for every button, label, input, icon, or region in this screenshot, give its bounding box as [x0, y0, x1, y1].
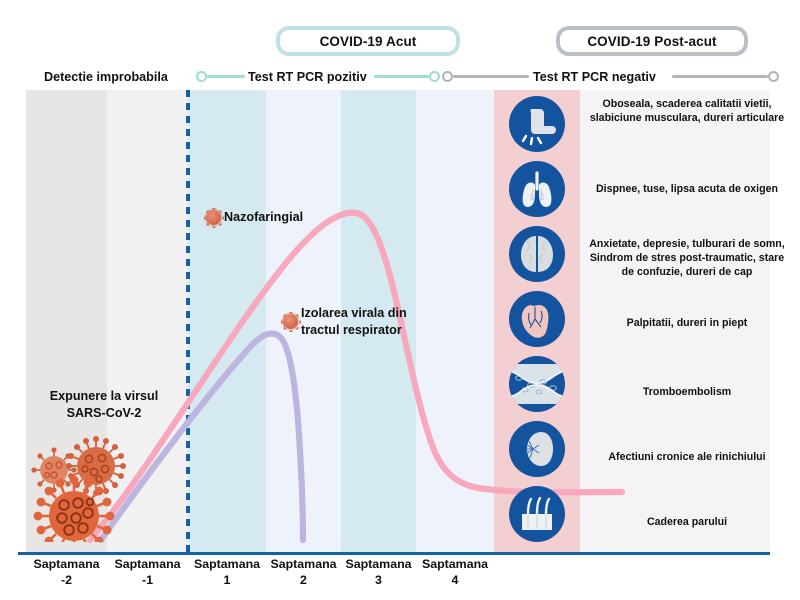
week-tick--2: Saptamana -2	[26, 556, 107, 588]
symptom-text-dyspnea: Dispnee, tuse, lipsa acuta de oxigen	[586, 182, 788, 196]
symptom-text-neuro: Anxietate, depresie, tulburari de somn, …	[586, 237, 788, 279]
week-tick--2-value: -2	[61, 573, 72, 587]
hair-follicle-icon	[509, 486, 565, 542]
kidney-icon	[509, 421, 565, 477]
joint-pain-icon	[509, 96, 565, 152]
symptom-text-thromboembolism: Tromboembolism	[586, 385, 788, 399]
annotation-nasopharyngeal-label: Nazofaringial	[224, 210, 303, 224]
annotation-nasopharyngeal: Nazofaringial	[224, 209, 303, 226]
week-tick-2-name: Saptamana	[270, 557, 336, 571]
viral-isolation-marker-icon	[283, 314, 298, 329]
annotation-viral-isolation-line2: tractul respirator	[301, 323, 402, 337]
week-tick-1-value: 1	[224, 573, 231, 587]
week-tick--2-name: Saptamana	[33, 557, 99, 571]
infographic-root: COVID-19 Acut COVID-19 Post-acut Detecti…	[0, 0, 800, 600]
week-tick--1-name: Saptamana	[114, 557, 180, 571]
week-tick-3-value: 3	[375, 573, 382, 587]
lungs-icon	[509, 161, 565, 217]
blood-vessel-icon	[509, 356, 565, 412]
exposure-label-line2: SARS-CoV-2	[67, 406, 142, 420]
virus-cluster-icon	[24, 432, 134, 542]
annotation-viral-isolation: Izolarea virala din tractul respirator	[301, 305, 407, 339]
week-tick-4-name: Saptamana	[422, 557, 488, 571]
week-tick-1-name: Saptamana	[194, 557, 260, 571]
symptom-text-kidney: Afectiuni cronice ale rinichiului	[586, 450, 788, 464]
exposure-label-line1: Expunere la virsul	[50, 389, 159, 403]
week-tick-4-value: 4	[452, 573, 459, 587]
symptom-text-palpitations: Palpitatii, dureri in piept	[586, 316, 788, 330]
week-tick--1-value: -1	[142, 573, 153, 587]
nasopharyngeal-marker-icon	[206, 210, 221, 225]
week-tick-3-name: Saptamana	[345, 557, 411, 571]
week-tick-2: Saptamana 2	[266, 556, 341, 588]
annotation-viral-isolation-line1: Izolarea virala din	[301, 306, 407, 320]
heart-icon	[509, 291, 565, 347]
week-tick-3: Saptamana 3	[341, 556, 416, 588]
exposure-label: Expunere la virsul SARS-CoV-2	[24, 388, 184, 422]
week-tick-2-value: 2	[300, 573, 307, 587]
symptom-text-hair-loss: Caderea parului	[586, 515, 788, 529]
symptom-text-fatigue: Oboseala, scaderea calitatii vietii, sla…	[586, 97, 788, 125]
week-tick--1: Saptamana -1	[107, 556, 188, 588]
week-tick-4: Saptamana 4	[416, 556, 494, 588]
brain-icon	[509, 226, 565, 282]
week-tick-1: Saptamana 1	[188, 556, 266, 588]
